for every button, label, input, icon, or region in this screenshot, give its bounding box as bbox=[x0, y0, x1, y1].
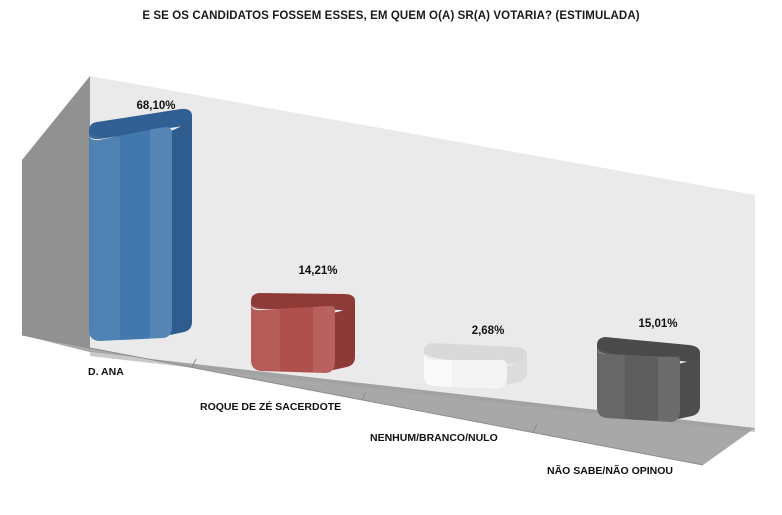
data-label-bar-4: 15,01% bbox=[630, 318, 686, 330]
category-label-roque-de-ze-sacerdote: ROQUE DE ZÉ SACERDOTE bbox=[200, 401, 341, 413]
category-label-d-ana: D. ANA bbox=[88, 366, 124, 378]
bar-nao-sabe-nao-opinou[interactable] bbox=[597, 337, 700, 422]
category-label-nenhum-branco-nulo: NENHUM/BRANCO/NULO bbox=[370, 432, 498, 444]
chart-container: E SE OS CANDIDATOS FOSSEM ESSES, EM QUEM… bbox=[0, 0, 782, 515]
data-label-bar-3: 2,68% bbox=[460, 325, 516, 337]
bar-d-ana[interactable] bbox=[89, 109, 192, 341]
chart-side-wall bbox=[22, 76, 90, 352]
category-label-nao-sabe-nao-opinou: NÃO SABE/NÃO OPINOU bbox=[547, 465, 673, 477]
bar-roque-de-ze-sacerdote[interactable] bbox=[251, 293, 355, 373]
bar-nenhum-branco-nulo[interactable] bbox=[424, 343, 527, 389]
data-label-bar-1: 68,10% bbox=[126, 100, 186, 112]
data-label-bar-2: 14,21% bbox=[288, 265, 348, 277]
